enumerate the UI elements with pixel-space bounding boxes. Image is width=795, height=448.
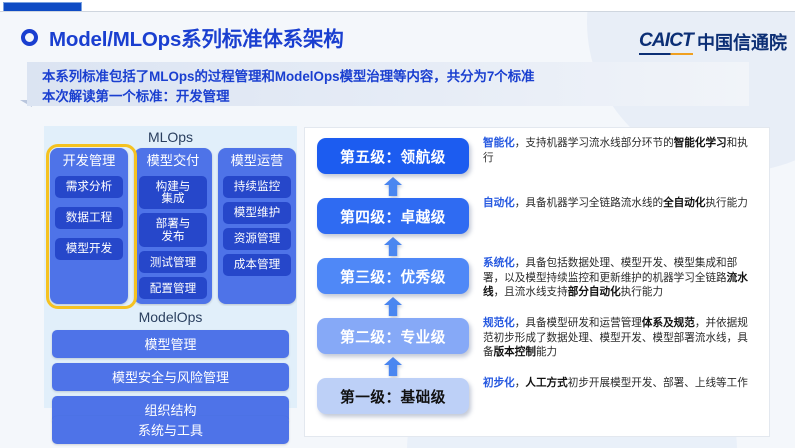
title-row: Model/MLOps系列标准体系架构 — [21, 22, 344, 52]
mlops-architecture-panel: MLOps 开发管理需求分析数据工程模型开发模型交付构建与集成部署与发布测试管理… — [44, 126, 297, 442]
maturity-level-row: 第三级：优秀级 — [317, 258, 469, 294]
desc-keyword: 智能化 — [483, 137, 515, 149]
desc-text: 能力 — [536, 346, 557, 358]
maturity-level-row: 第二级：专业级 — [317, 318, 469, 354]
mlops-item[interactable]: 配置管理 — [139, 277, 207, 299]
subtitle-line-1: 本系列标准包括了MLOps的过程管理和ModelOps模型治理等内容，共分为7个… — [42, 67, 534, 87]
arrow-up-icon — [383, 237, 403, 256]
mlops-column-3: 模型运营持续监控模型维护资源管理成本管理 — [218, 148, 296, 304]
desc-emphasis: 全自动化 — [663, 197, 705, 209]
logo-mark: CAICT — [639, 30, 693, 55]
mlops-item[interactable]: 数据工程 — [55, 207, 123, 229]
maturity-level-ladder: 第五级：领航级第四级：卓越级第三级：优秀级第二级：专业级第一级：基础级 — [317, 134, 469, 430]
slide-header: Model/MLOps系列标准体系架构 CAICT 中国信通院 — [0, 12, 795, 57]
mlops-columns: 开发管理需求分析数据工程模型开发模型交付构建与集成部署与发布测试管理配置管理模型… — [50, 148, 296, 304]
desc-keyword: 规范化 — [483, 317, 515, 329]
mlops-item[interactable]: 测试管理 — [139, 251, 207, 273]
desc-text: 初步开展模型开发、部署、上线等工作 — [568, 377, 748, 389]
desc-text: ，具备机器学习全链路流水线的 — [515, 197, 663, 209]
desc-emphasis: 人工方式 — [525, 377, 567, 389]
arrow-up-icon — [383, 357, 403, 376]
mlops-item[interactable]: 资源管理 — [223, 228, 291, 250]
ring-icon — [21, 29, 38, 46]
slide-root: Model/MLOps系列标准体系架构 CAICT 中国信通院 本系列标准包括了… — [0, 0, 795, 448]
mlops-label: MLOps — [44, 129, 297, 145]
maturity-level-description: 规范化，具备模型研发和运营管理体系及规范，并依据规范初步形成了数据处理、模型开发… — [483, 316, 751, 360]
mlops-column-header: 开发管理 — [55, 152, 123, 172]
modelops-label: ModelOps — [44, 309, 297, 325]
maturity-level-box[interactable]: 第二级：专业级 — [317, 318, 469, 354]
mlops-column-header: 模型运营 — [223, 152, 291, 172]
desc-keyword: 自动化 — [483, 197, 515, 209]
maturity-levels-panel: 第五级：领航级第四级：卓越级第三级：优秀级第二级：专业级第一级：基础级 智能化，… — [304, 127, 770, 437]
mlops-item[interactable]: 成本管理 — [223, 254, 291, 276]
maturity-level-box[interactable]: 第三级：优秀级 — [317, 258, 469, 294]
logo-name: 中国信通院 — [697, 34, 787, 55]
page-title: Model/MLOps系列标准体系架构 — [49, 22, 344, 52]
desc-text: ， — [515, 377, 526, 389]
maturity-level-box[interactable]: 第一级：基础级 — [317, 378, 469, 414]
maturity-level-description: 智能化，支持机器学习流水线部分环节的智能化学习和执行 — [483, 136, 751, 165]
desc-text: 执行能力 — [705, 197, 747, 209]
mlops-item[interactable]: 持续监控 — [223, 176, 291, 198]
desc-emphasis: 智能化学习 — [674, 137, 727, 149]
desc-emphasis: 版本控制 — [494, 346, 536, 358]
maturity-level-box[interactable]: 第四级：卓越级 — [317, 198, 469, 234]
maturity-level-description: 系统化，具备包括数据处理、模型开发、模型集成和部署，以及模型持续监控和更新维护的… — [483, 256, 751, 300]
system-tools-bar[interactable]: 系统与工具 — [52, 416, 289, 444]
desc-emphasis: 部分自动化 — [568, 286, 621, 298]
mlops-column-2: 模型交付构建与集成部署与发布测试管理配置管理 — [134, 148, 212, 304]
subtitle-line-2: 本次解读第一个标准：开发管理 — [42, 87, 534, 107]
desc-emphasis: 体系及规范 — [642, 317, 695, 329]
mlops-item[interactable]: 模型维护 — [223, 202, 291, 224]
maturity-level-row: 第四级：卓越级 — [317, 198, 469, 234]
mlops-item[interactable]: 部署与发布 — [139, 213, 207, 247]
desc-keyword: 初步化 — [483, 377, 515, 389]
mlops-item[interactable]: 模型开发 — [55, 238, 123, 260]
maturity-level-box[interactable]: 第五级：领航级 — [317, 138, 469, 174]
maturity-level-description: 自动化，具备机器学习全链路流水线的全自动化执行能力 — [483, 196, 751, 211]
maturity-level-row: 第五级：领航级 — [317, 138, 469, 174]
desc-text: 执行能力 — [621, 286, 663, 298]
maturity-level-description: 初步化，人工方式初步开展模型开发、部署、上线等工作 — [483, 376, 751, 391]
arrow-up-icon — [383, 177, 403, 196]
arrow-up-icon — [383, 297, 403, 316]
desc-text: ，具备模型研发和运营管理 — [515, 317, 642, 329]
mlops-column-header: 模型交付 — [139, 152, 207, 172]
modelops-bar[interactable]: 模型管理 — [52, 330, 289, 358]
mlops-column-1: 开发管理需求分析数据工程模型开发 — [50, 148, 128, 304]
subtitle-text: 本系列标准包括了MLOps的过程管理和ModelOps模型治理等内容，共分为7个… — [42, 67, 534, 107]
desc-text: ，支持机器学习流水线部分环节的 — [515, 137, 674, 149]
maturity-level-descriptions: 智能化，支持机器学习流水线部分环节的智能化学习和执行自动化，具备机器学习全链路流… — [483, 134, 757, 430]
mlops-item[interactable]: 构建与集成 — [139, 176, 207, 210]
modelops-bars: 模型管理模型安全与风险管理组织结构 — [52, 330, 289, 424]
maturity-level-row: 第一级：基础级 — [317, 378, 469, 414]
desc-text: ，且流水线支持 — [494, 286, 568, 298]
mlops-item[interactable]: 需求分析 — [55, 176, 123, 198]
modelops-bar[interactable]: 模型安全与风险管理 — [52, 363, 289, 391]
desc-text: ，具备包括数据处理、模型开发、模型集成和部署，以及模型持续监控和更新维护的机器学… — [483, 257, 737, 284]
desc-keyword: 系统化 — [483, 257, 515, 269]
caict-logo: CAICT 中国信通院 — [639, 30, 787, 55]
